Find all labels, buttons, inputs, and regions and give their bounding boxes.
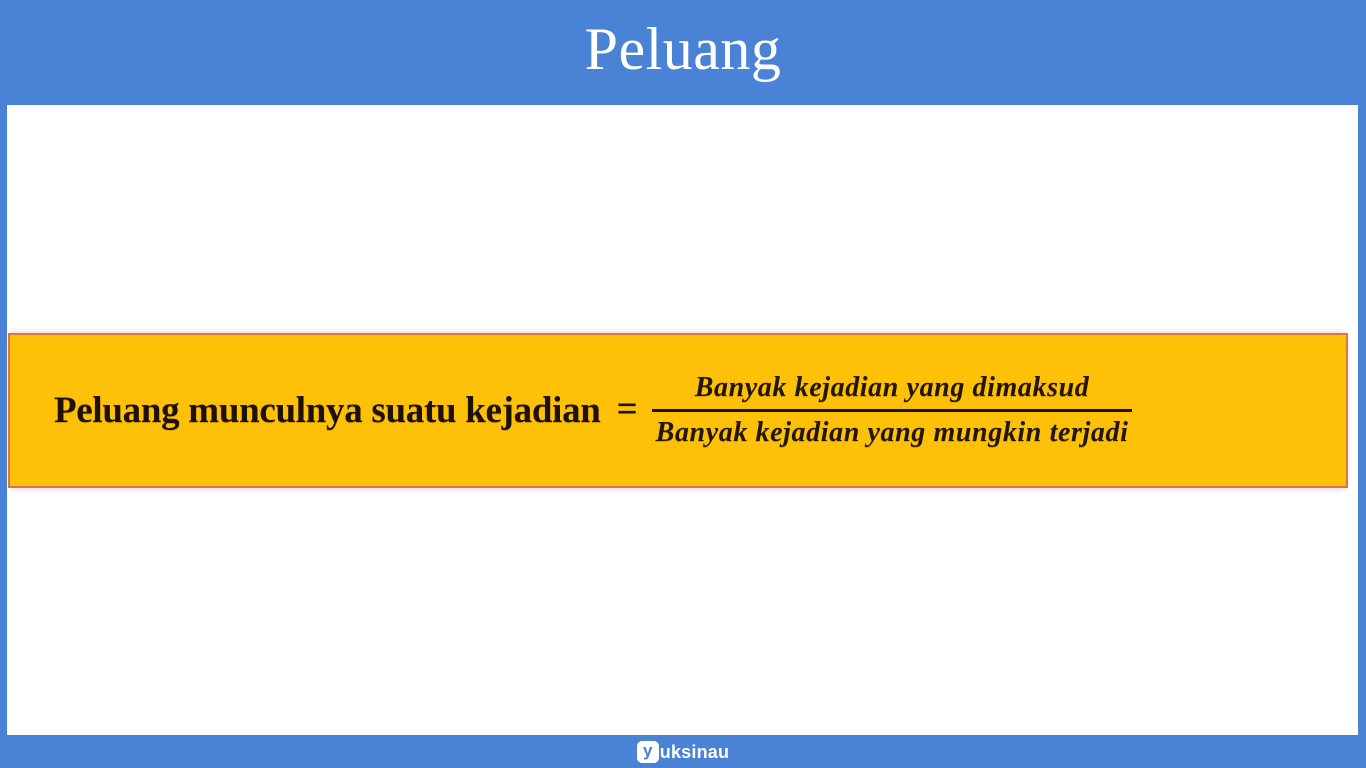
fraction-numerator: Banyak kejadian yang dimaksud	[689, 371, 1096, 408]
formula-left-hand-side: Peluang munculnya suatu kejadian	[54, 389, 601, 432]
fraction-denominator: Banyak kejadian yang mungkin terjadi	[652, 412, 1133, 450]
brand-name-label: uksinau	[660, 743, 729, 761]
slide-canvas: Peluang Peluang munculnya suatu kejadian…	[0, 0, 1366, 768]
brand-mark-icon: y	[637, 741, 659, 763]
formula-row: Peluang munculnya suatu kejadian = Banya…	[10, 371, 1346, 449]
page-title: Peluang	[585, 19, 782, 79]
fraction: Banyak kejadian yang dimaksud Banyak kej…	[652, 371, 1133, 449]
slide-content-panel: Peluang munculnya suatu kejadian = Banya…	[7, 105, 1358, 735]
equals-sign: =	[617, 388, 638, 431]
footer-bar: y uksinau	[0, 735, 1366, 768]
title-banner: Peluang	[0, 0, 1366, 104]
formula-card: Peluang munculnya suatu kejadian = Banya…	[8, 333, 1348, 488]
brand-logo: y uksinau	[637, 741, 729, 763]
brand-mark-letter: y	[643, 742, 652, 759]
